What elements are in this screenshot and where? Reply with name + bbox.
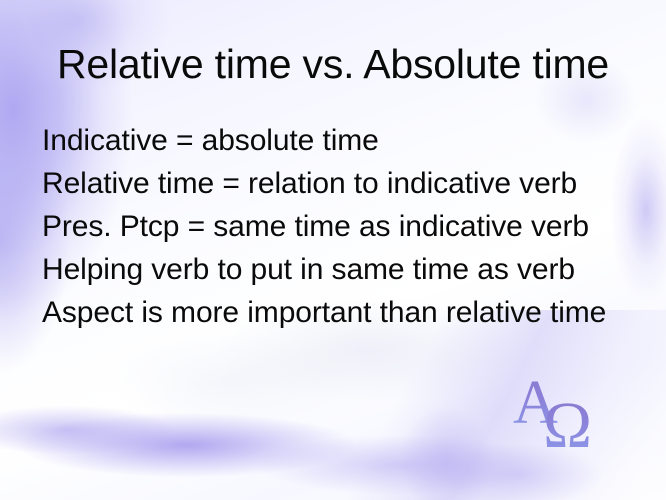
presentation-slide: Relative time vs. Absolute time Indicati… — [0, 0, 666, 500]
slide-title: Relative time vs. Absolute time — [0, 40, 666, 88]
body-line: Helping verb to put in same time as verb — [42, 248, 606, 291]
slide-body-list: Indicative = absolute time Relative time… — [42, 119, 606, 334]
body-line: Indicative = absolute time — [42, 119, 606, 162]
omega-glyph: Ω — [543, 389, 592, 455]
alpha-omega-logo: Α Ω — [503, 365, 613, 455]
body-line: Pres. Ptcp = same time as indicative ver… — [42, 205, 606, 248]
body-line: Aspect is more important than relative t… — [42, 291, 606, 334]
body-line: Relative time = relation to indicative v… — [42, 162, 606, 205]
